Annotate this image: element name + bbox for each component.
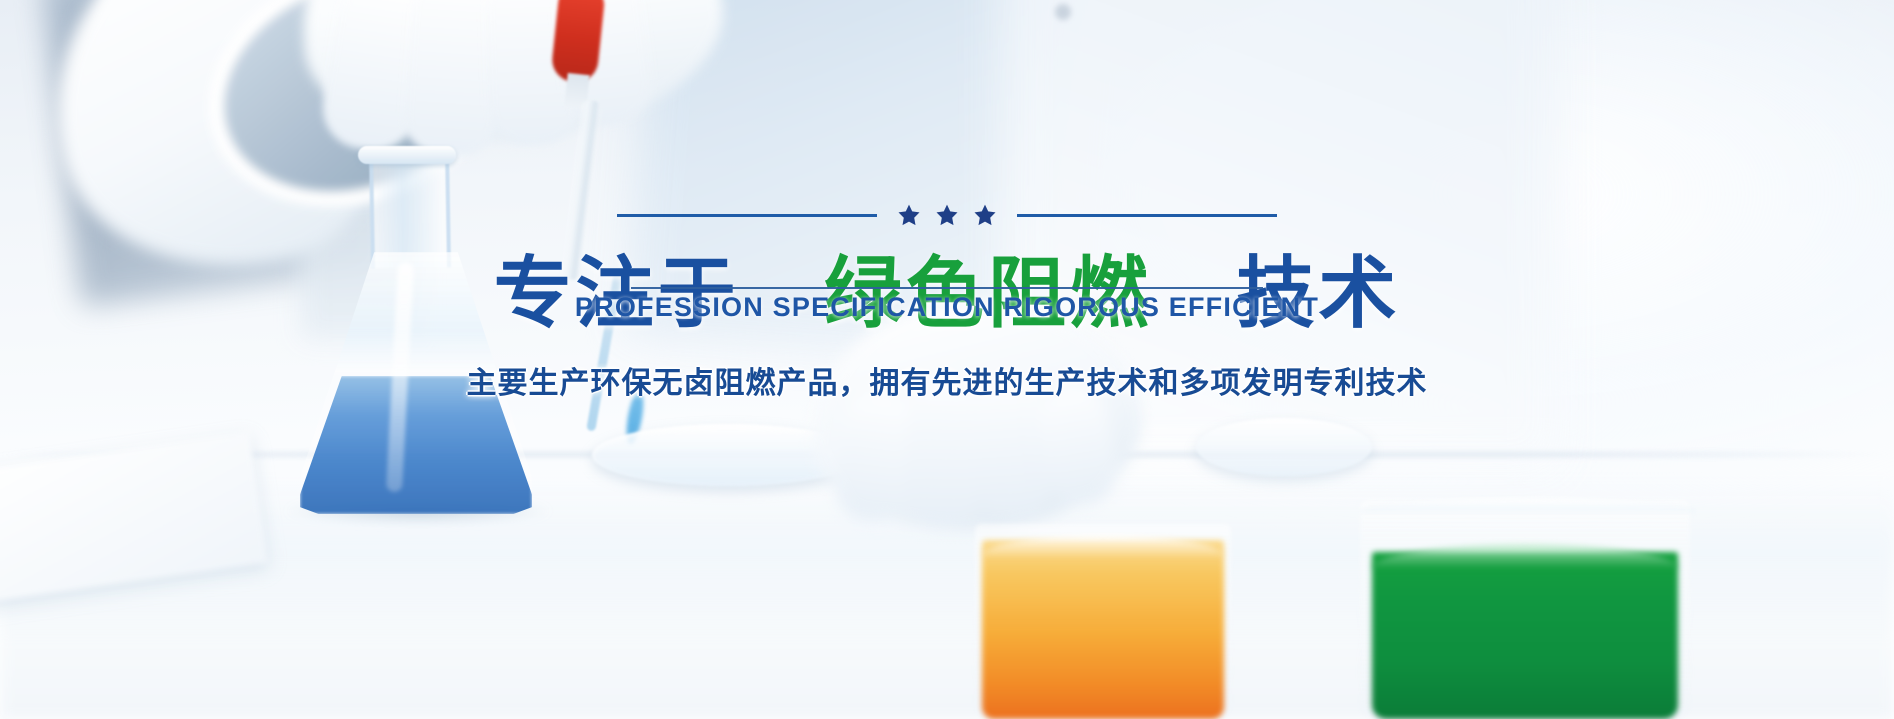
banner-content: 专注于 绿色阻燃 技术 PROFESSION SPECIFICATION RIG…: [0, 0, 1894, 719]
title-divider: [631, 287, 1263, 289]
hero-banner: 专注于 绿色阻燃 技术 PROFESSION SPECIFICATION RIG…: [0, 0, 1894, 719]
star-group: [897, 203, 997, 227]
star-icon: [973, 203, 997, 227]
star-icon: [897, 203, 921, 227]
subtitle-english: PROFESSION SPECIFICATION RIGOROUS EFFICI…: [575, 292, 1319, 323]
rule-line-right: [1017, 214, 1277, 217]
star-rule-decoration: [617, 203, 1277, 227]
description-text: 主要生产环保无卤阻燃产品，拥有先进的生产技术和多项发明专利技术: [467, 358, 1428, 402]
rule-line-left: [617, 214, 877, 217]
star-icon: [935, 203, 959, 227]
